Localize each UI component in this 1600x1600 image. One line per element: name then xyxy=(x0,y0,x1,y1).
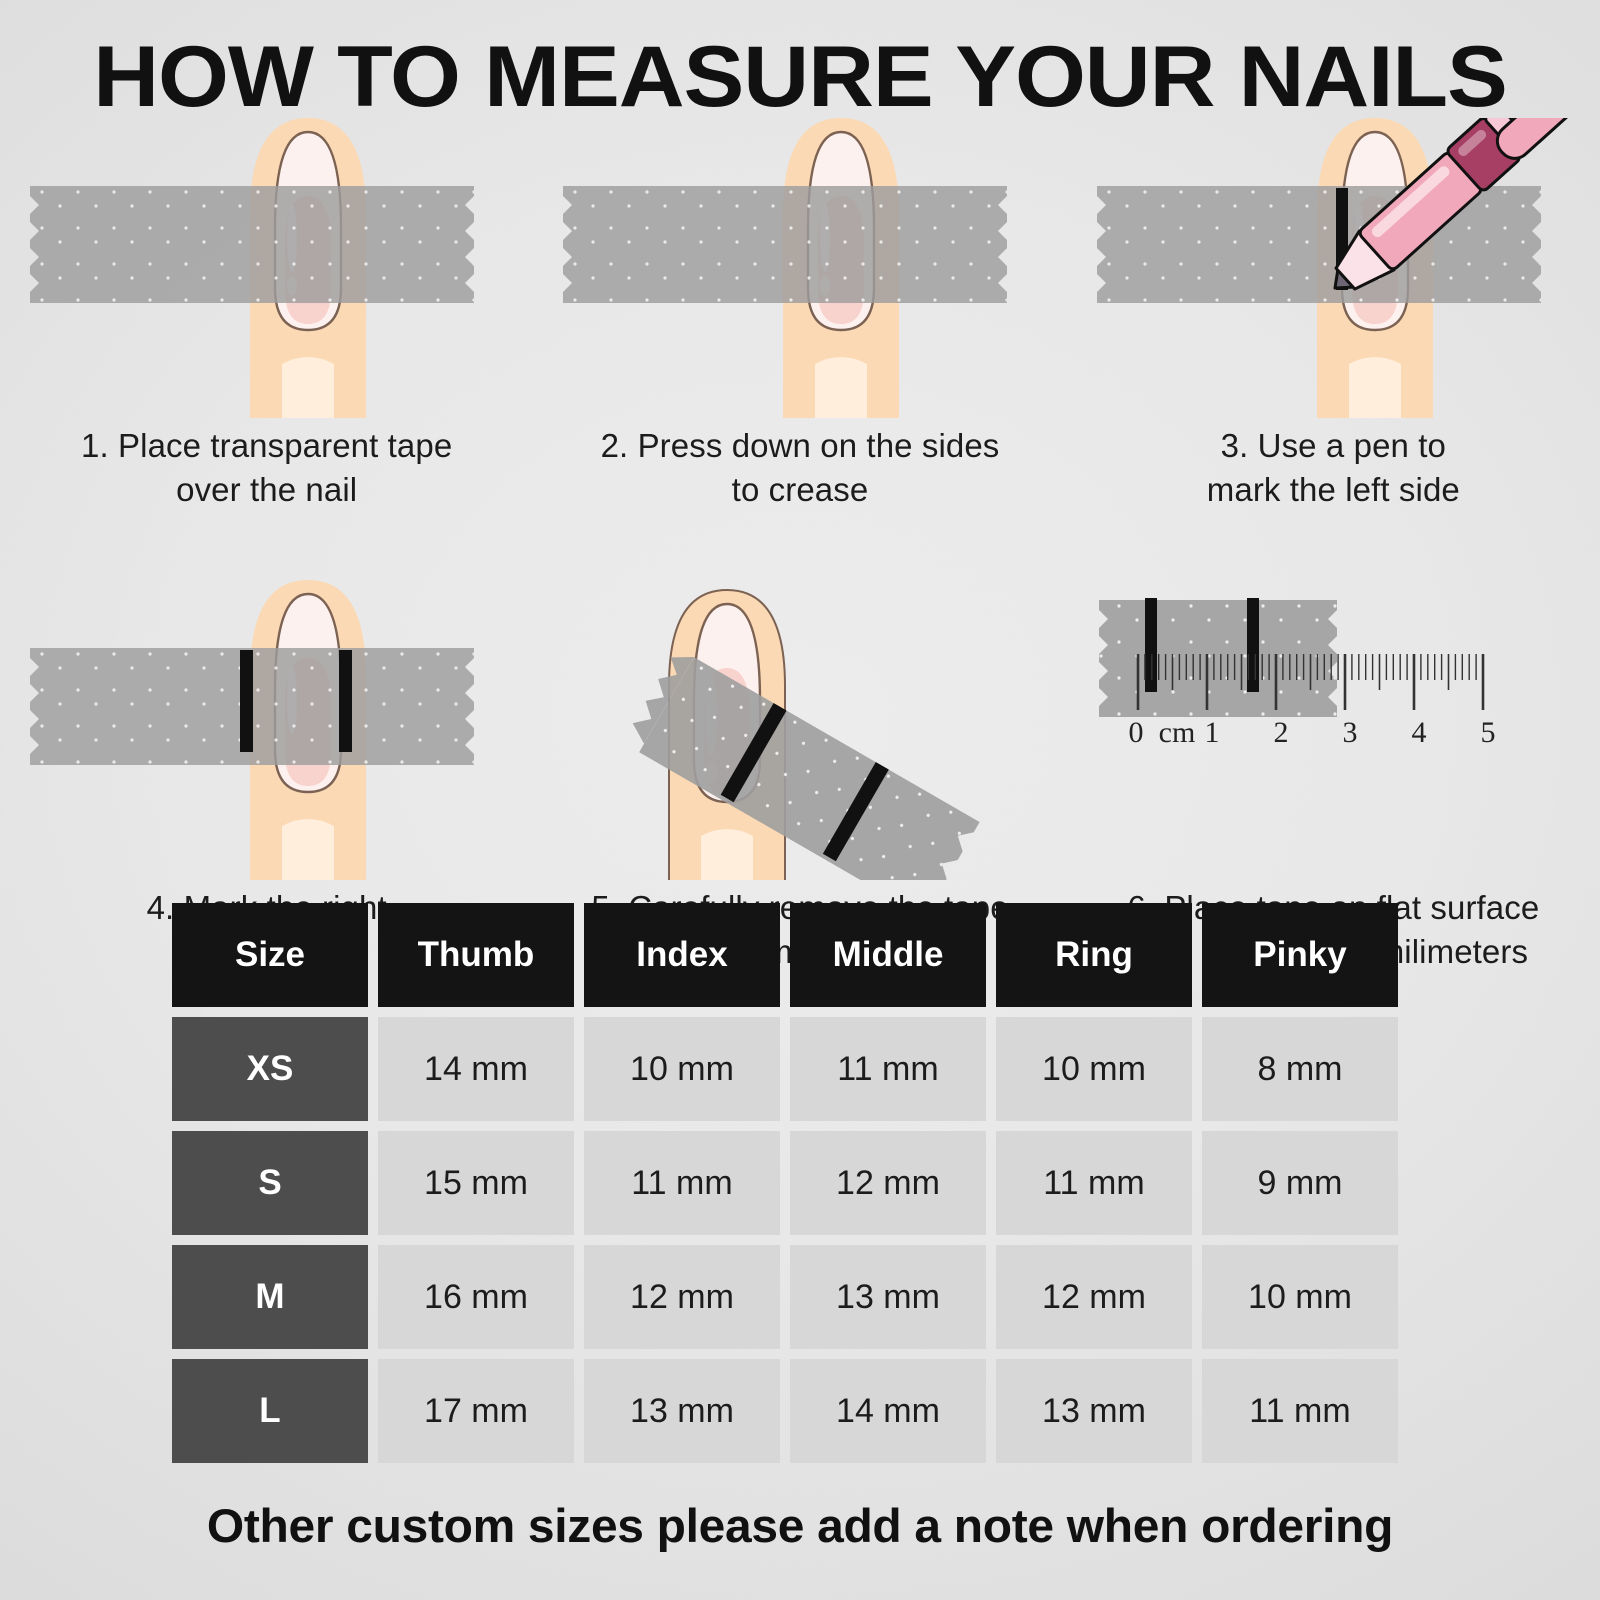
step-3-illustration xyxy=(1067,118,1600,418)
step-1-caption-line1: 1. Place transparent tape xyxy=(0,424,533,468)
cell-xs-pinky: 8 mm xyxy=(1202,1017,1398,1121)
ruler-tick-0: 0 xyxy=(1121,716,1151,750)
step-3-caption: 3. Use a pen to mark the left side xyxy=(1067,424,1600,512)
cell-m-middle: 13 mm xyxy=(790,1245,986,1349)
step-2-illustration xyxy=(533,118,1066,418)
cell-xs-ring: 10 mm xyxy=(996,1017,1192,1121)
page-title: HOW TO MEASURE YOUR NAILS xyxy=(0,28,1600,127)
finger-pen-mark-illustration xyxy=(1067,118,1600,418)
cell-m-index: 12 mm xyxy=(584,1245,780,1349)
size-label-s: S xyxy=(172,1131,368,1235)
table-header-middle: Middle xyxy=(790,903,986,1007)
table-row: XS 14 mm 10 mm 11 mm 10 mm 8 mm xyxy=(172,1017,1438,1121)
step-1-caption: 1. Place transparent tape over the nail xyxy=(0,424,533,512)
step-3: 3. Use a pen to mark the left side xyxy=(1067,118,1600,512)
ruler-unit-label: cm xyxy=(1157,716,1197,750)
cell-l-index: 13 mm xyxy=(584,1359,780,1463)
table-header-row: Size Thumb Index Middle Ring Pinky xyxy=(172,903,1438,1007)
tape-strip xyxy=(30,186,474,303)
cell-s-middle: 12 mm xyxy=(790,1131,986,1235)
table-header-index: Index xyxy=(584,903,780,1007)
tape-strip xyxy=(1097,186,1541,303)
cell-l-middle: 14 mm xyxy=(790,1359,986,1463)
table-header-pinky: Pinky xyxy=(1202,903,1398,1007)
step-1-caption-line2: over the nail xyxy=(0,468,533,512)
cell-s-thumb: 15 mm xyxy=(378,1131,574,1235)
step-2-caption-line1: 2. Press down on the sides xyxy=(533,424,1066,468)
cell-l-thumb: 17 mm xyxy=(378,1359,574,1463)
cell-xs-middle: 11 mm xyxy=(790,1017,986,1121)
step-2-caption: 2. Press down on the sides to crease xyxy=(533,424,1066,512)
size-label-l: L xyxy=(172,1359,368,1463)
table-header-size: Size xyxy=(172,903,368,1007)
step-1-illustration xyxy=(0,118,533,418)
table-header-ring: Ring xyxy=(996,903,1192,1007)
ruler-labels: 0 cm 1 2 3 4 5 xyxy=(1125,716,1495,756)
ruler-tick-1: 1 xyxy=(1197,716,1227,750)
table-row: S 15 mm 11 mm 12 mm 11 mm 9 mm xyxy=(172,1131,1438,1235)
step-5-illustration xyxy=(533,580,1066,880)
size-label-xs: XS xyxy=(172,1017,368,1121)
finger-tape-peel-illustration xyxy=(533,580,1066,880)
ruler-tick-5: 5 xyxy=(1473,716,1503,750)
cell-xs-index: 10 mm xyxy=(584,1017,780,1121)
steps-row-1: 1. Place transparent tape over the nail xyxy=(0,118,1600,512)
cell-s-pinky: 9 mm xyxy=(1202,1131,1398,1235)
table-header-thumb: Thumb xyxy=(378,903,574,1007)
cell-s-ring: 11 mm xyxy=(996,1131,1192,1235)
table-row: L 17 mm 13 mm 14 mm 13 mm 11 mm xyxy=(172,1359,1438,1463)
ruler-tick-3: 3 xyxy=(1335,716,1365,750)
ruler-tick-2: 2 xyxy=(1266,716,1296,750)
right-mark xyxy=(339,650,352,752)
step-1: 1. Place transparent tape over the nail xyxy=(0,118,533,512)
size-table: Size Thumb Index Middle Ring Pinky XS 14… xyxy=(172,903,1438,1473)
cell-xs-thumb: 14 mm xyxy=(378,1017,574,1121)
ruler-tick-4: 4 xyxy=(1404,716,1434,750)
tape-strip xyxy=(563,186,1007,303)
step-3-caption-line1: 3. Use a pen to xyxy=(1067,424,1600,468)
cell-l-pinky: 11 mm xyxy=(1202,1359,1398,1463)
step-2: 2. Press down on the sides to crease xyxy=(533,118,1066,512)
footer-note: Other custom sizes please add a note whe… xyxy=(0,1498,1600,1553)
step-2-caption-line2: to crease xyxy=(533,468,1066,512)
table-row: M 16 mm 12 mm 13 mm 12 mm 10 mm xyxy=(172,1245,1438,1349)
cell-l-ring: 13 mm xyxy=(996,1359,1192,1463)
step-3-caption-line2: mark the left side xyxy=(1067,468,1600,512)
finger-two-marks-illustration xyxy=(0,580,533,880)
cell-m-thumb: 16 mm xyxy=(378,1245,574,1349)
steps-section: 1. Place transparent tape over the nail xyxy=(0,118,1600,974)
finger-with-tape-illustration xyxy=(0,118,533,418)
cell-s-index: 11 mm xyxy=(584,1131,780,1235)
cell-m-ring: 12 mm xyxy=(996,1245,1192,1349)
left-mark xyxy=(240,650,253,752)
step-4-illustration xyxy=(0,580,533,880)
finger-creased-tape-illustration xyxy=(533,118,1066,418)
cell-m-pinky: 10 mm xyxy=(1202,1245,1398,1349)
size-label-m: M xyxy=(172,1245,368,1349)
